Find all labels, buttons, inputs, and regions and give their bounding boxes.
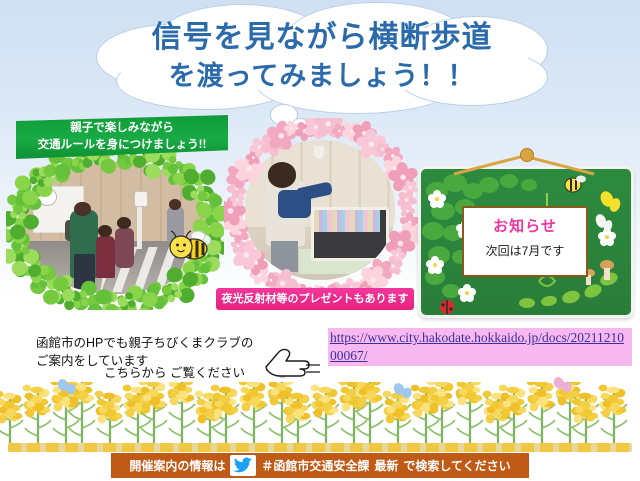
child-legs: [271, 241, 298, 272]
notice-title: お知らせ: [464, 215, 586, 236]
page-title: 信号を見ながら横断歩道 を渡ってみましょう！！: [96, 18, 548, 94]
board-hook-icon: [520, 148, 534, 162]
search-info-banner: 開催案内の情報は ＃函館市交通安全課 最新 で検索してください: [111, 453, 529, 478]
hakodate-url-link[interactable]: https://www.city.hakodate.hokkaido.jp/do…: [328, 328, 632, 366]
field-ground-line: [8, 443, 632, 452]
poster-root: 信号を見ながら横断歩道 を渡ってみましょう！！ 親子で楽しみながら 交通ルールを…: [0, 0, 640, 481]
ladybug-icon: [440, 300, 454, 314]
child-head: [268, 162, 297, 187]
child-two-figure: [115, 228, 134, 268]
speech-tail-small: [292, 118, 308, 131]
pink-banner: 夜光反射材等のプレゼントもあります: [216, 288, 414, 310]
title-line-1: 信号を見ながら横断歩道: [96, 18, 548, 57]
staff-head: [169, 199, 181, 210]
banner-hashtag: ＃函館市交通安全課: [261, 457, 369, 474]
prize-items: [314, 210, 380, 232]
photo-prize-box: [245, 140, 395, 280]
green-banner-line-1: 親子で楽しみながら: [16, 120, 228, 137]
notice-subtitle: 次回は7月です: [464, 242, 586, 259]
green-banner-line-2: 交通ルールを身につけましょう!!: [16, 137, 228, 154]
banner-prefix: 開催案内の情報は: [129, 457, 225, 474]
url-text[interactable]: https://www.city.hakodate.hokkaido.jp/do…: [330, 329, 630, 365]
banner-suffix: で検索してください: [403, 457, 510, 474]
twitter-bird-glyph: [233, 457, 253, 474]
board-hanging-rope: [440, 152, 630, 178]
pointing-hand-icon: [262, 345, 324, 383]
title-line-2: を渡ってみましょう！！: [96, 59, 548, 94]
bee-mascot-icon: [168, 228, 212, 262]
child-one-figure: [96, 236, 115, 278]
butterfly-pink-icon-2: [552, 376, 574, 394]
ceiling-lamp: [314, 146, 324, 159]
hp-guidance-line-1: 函館市のHPでも親子ちびくまクラブの: [36, 334, 292, 352]
twitter-icon[interactable]: [230, 455, 256, 476]
green-banner: 親子で楽しみながら 交通ルールを身につけましょう!!: [16, 115, 228, 159]
adult-head: [74, 202, 91, 217]
butterfly-blue-icon: [56, 378, 78, 396]
banner-keyword: 最新: [374, 457, 398, 474]
butterfly-yellow-icon: [598, 189, 622, 213]
traffic-signal-icon: [134, 191, 148, 207]
notice-panel: お知らせ 次回は7月です: [462, 206, 588, 277]
adult-legs: [74, 254, 94, 288]
butterfly-blue-icon-2: [392, 382, 414, 400]
